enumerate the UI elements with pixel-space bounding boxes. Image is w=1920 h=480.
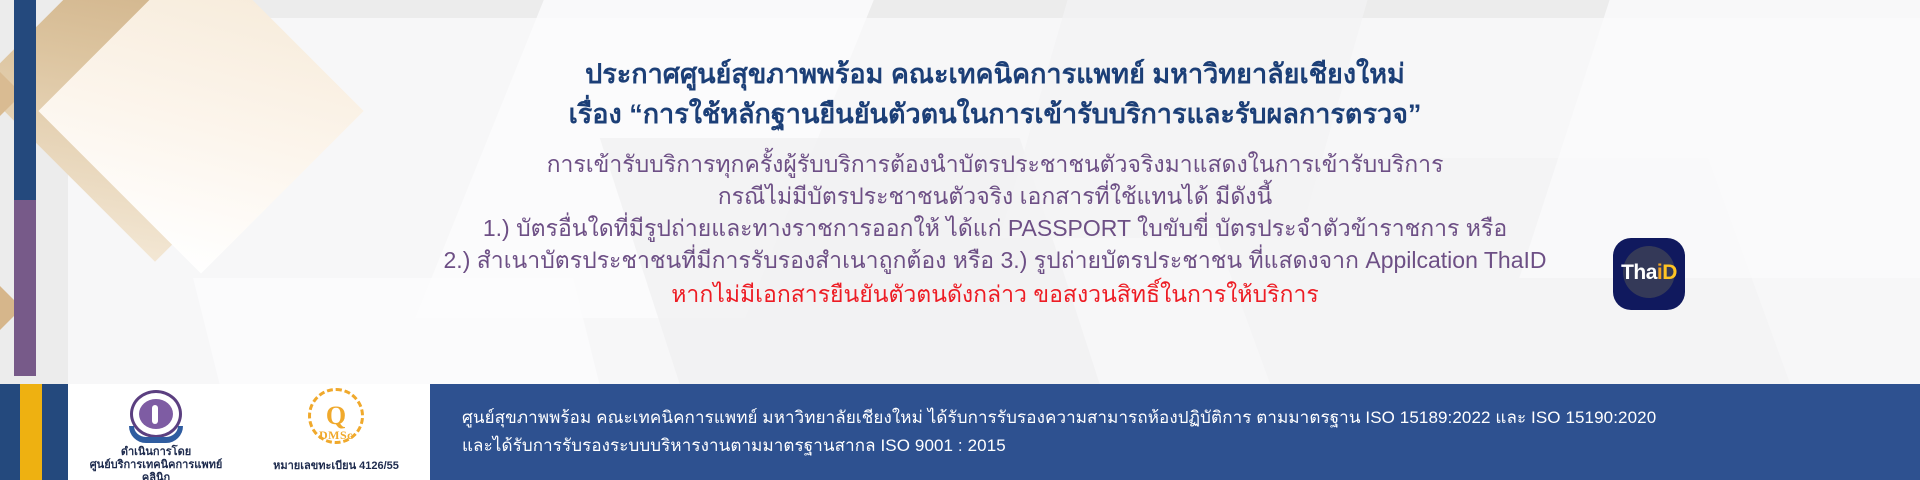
body-line-2: กรณีไม่มีบัตรประชาชนตัวจริง เอกสารที่ใช้… (444, 180, 1547, 212)
announcement-content: ประกาศศูนย์สุขภาพพร้อม คณะเทคนิคการแพทย์… (70, 24, 1920, 380)
footer-line-2: และได้รับการรับรองระบบบริหารงานตามมาตรฐา… (462, 432, 1920, 460)
announcement-banner: ประกาศศูนย์สุขภาพพร้อม คณะเทคนิคการแพทย์… (0, 0, 1920, 480)
body-line-item-2: 2.) สำเนาบัตรประชาชนที่มีการรับรองสำเนาถ… (444, 244, 1547, 276)
edge-bar-purple (14, 200, 36, 376)
logo-item: Q DMSc หมายเลขทะเบียน 4126/55 (256, 388, 416, 473)
thaid-wordmark-d: D (1662, 261, 1677, 284)
logo-caption: หมายเลขทะเบียน 4126/55 (273, 460, 399, 473)
thaid-wordmark-tha: Tha (1621, 261, 1657, 284)
footer-line-1: ศูนย์สุขภาพพร้อม คณะเทคนิคการแพทย์ มหาวิ… (462, 404, 1920, 432)
q-dmsc-quality-assurance-seal-icon: Q DMSc (308, 388, 364, 444)
footer-bar-navy-inner (42, 384, 68, 480)
thaid-app-icon: ThaiD (1613, 238, 1685, 310)
dmsc-letters: DMSc (308, 428, 364, 443)
footer-bar-gold (20, 384, 42, 480)
title-block: ประกาศศูนย์สุขภาพพร้อม คณะเทคนิคการแพทย์… (569, 54, 1422, 134)
body-line-item-1: 1.) บัตรอื่นใดที่มีรูปถ่ายและทางราชการออ… (444, 212, 1547, 244)
footer-text-panel: ศูนย์สุขภาพพร้อม คณะเทคนิคการแพทย์ มหาวิ… (430, 384, 1920, 480)
announcement-subtitle: เรื่อง “การใช้หลักฐานยืนยันตัวตนในการเข้… (569, 94, 1422, 134)
footer-logo-panel: ดำเนินการโดย ศูนย์บริการเทคนิคการแพทย์คล… (0, 384, 430, 480)
announcement-warning: หากไม่มีเอกสารยืนยันตัวตนดังกล่าว ขอสงวน… (444, 278, 1547, 310)
edge-bar-navy (14, 0, 36, 200)
footer-bar-navy-outer (0, 384, 20, 480)
footer: ดำเนินการโดย ศูนย์บริการเทคนิคการแพทย์คล… (0, 384, 1920, 480)
announcement-title: ประกาศศูนย์สุขภาพพร้อม คณะเทคนิคการแพทย์… (569, 54, 1422, 94)
thaid-wordmark: ThaiD (1613, 261, 1685, 285)
medical-technology-clinic-seal-icon (128, 388, 184, 444)
body-line-1: การเข้ารับบริการทุกครั้งผู้รับบริการต้อง… (444, 148, 1547, 180)
announcement-body: การเข้ารับบริการทุกครั้งผู้รับบริการต้อง… (444, 148, 1547, 310)
logo-caption: ดำเนินการโดย ศูนย์บริการเทคนิคการแพทย์คล… (76, 446, 236, 480)
logo-item: ดำเนินการโดย ศูนย์บริการเทคนิคการแพทย์คล… (76, 388, 236, 480)
